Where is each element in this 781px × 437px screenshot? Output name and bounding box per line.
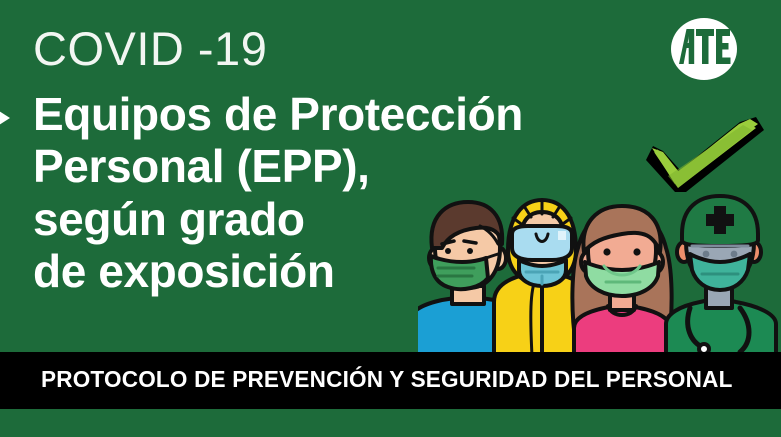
headline-line-2: Personal (EPP),	[33, 140, 633, 192]
arrow-right-icon	[0, 104, 10, 132]
figure-doctor	[666, 196, 776, 356]
bottom-green-strip	[0, 409, 781, 437]
eyebrow-text: COVID -19	[33, 22, 267, 76]
banner-text: PROTOCOLO DE PREVENCIÓN Y SEGURIDAD DEL …	[41, 366, 733, 393]
headline-line-1: Equipos de Protección	[33, 88, 633, 140]
ate-logo	[662, 17, 746, 81]
ppe-people-illustration	[418, 186, 781, 356]
figure-woman	[572, 206, 671, 356]
poster-canvas: COVID -19 Equipos de Protección Personal…	[0, 0, 781, 437]
